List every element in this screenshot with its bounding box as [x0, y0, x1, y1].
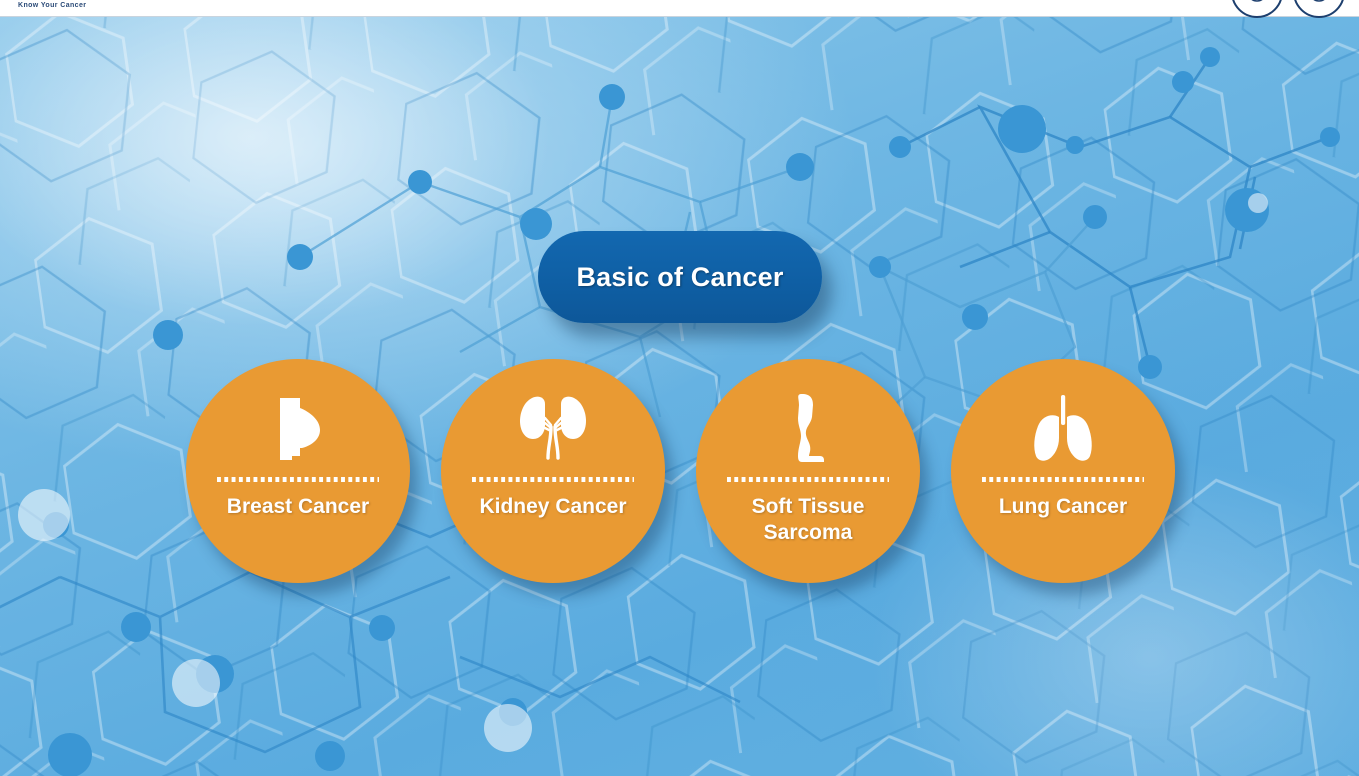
category-label: Kidney Cancer [455, 494, 651, 520]
kidneys-icon-wrap [518, 385, 588, 471]
header-round-button-2[interactable] [1293, 0, 1345, 18]
category-label: Lung Cancer [965, 494, 1161, 520]
divider-dotted [472, 477, 634, 482]
divider-dotted [217, 477, 379, 482]
basic-of-cancer-button[interactable]: Basic of Cancer [538, 231, 822, 323]
logo-tagline: Know Your Cancer [18, 2, 86, 9]
circle-outline-icon [1308, 0, 1330, 3]
leg-icon-wrap [790, 385, 826, 471]
lungs-icon-wrap [1030, 385, 1096, 471]
divider-dotted [982, 477, 1144, 482]
category-label: Breast Cancer [200, 494, 396, 520]
category-label: Soft Tissue Sarcoma [710, 494, 906, 545]
kidneys-icon [518, 394, 588, 462]
category-kidney-cancer[interactable]: Kidney Cancer [441, 359, 665, 583]
circle-outline-icon [1246, 0, 1268, 3]
cancer-category-list: Breast Cancer Kidney Cancer [0, 17, 1359, 776]
category-lung-cancer[interactable]: Lung Cancer [951, 359, 1175, 583]
header-round-button-1[interactable] [1231, 0, 1283, 18]
category-soft-tissue-sarcoma[interactable]: Soft Tissue Sarcoma [696, 359, 920, 583]
lungs-icon [1030, 393, 1096, 463]
header-actions [1231, 0, 1345, 18]
basic-of-cancer-label: Basic of Cancer [576, 262, 783, 293]
site-header: KYC Know Your Cancer [0, 0, 1359, 17]
leg-icon [790, 392, 826, 464]
divider-dotted [727, 477, 889, 482]
hero-section: Basic of Cancer Breast Cancer [0, 17, 1359, 776]
breast-icon-wrap [274, 385, 322, 471]
category-breast-cancer[interactable]: Breast Cancer [186, 359, 410, 583]
breast-icon [274, 394, 322, 462]
